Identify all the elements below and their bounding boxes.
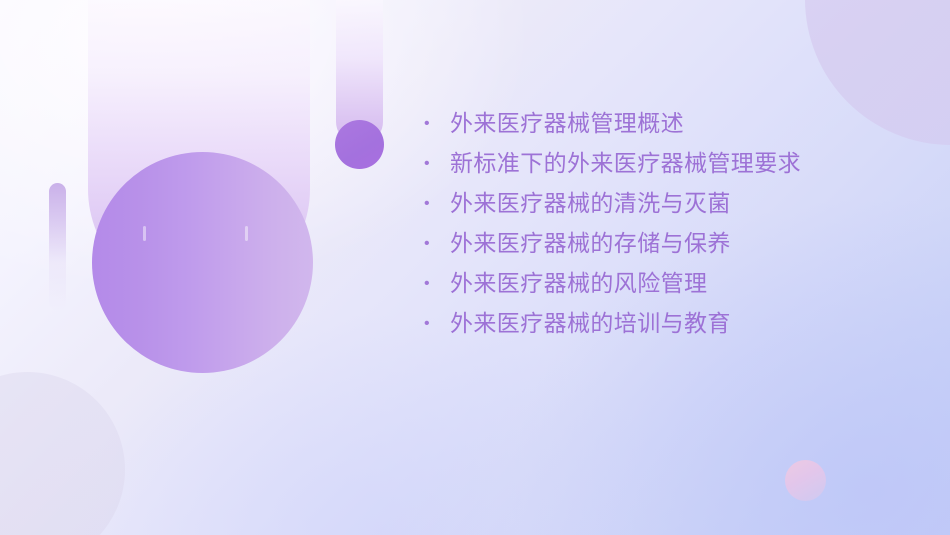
list-item[interactable]: • 外来医疗器械管理概述 bbox=[424, 112, 904, 152]
bullet-point-icon: • bbox=[424, 196, 450, 212]
list-item-label: 外来医疗器械的风险管理 bbox=[450, 272, 904, 295]
bullet-point-icon: • bbox=[424, 156, 450, 172]
decorative-dot-pink bbox=[785, 460, 826, 501]
agenda-bullet-list: • 外来医疗器械管理概述 • 新标准下的外来医疗器械管理要求 • 外来医疗器械的… bbox=[424, 112, 904, 352]
bullet-point-icon: • bbox=[424, 316, 450, 332]
list-item[interactable]: • 外来医疗器械的存储与保养 bbox=[424, 232, 904, 272]
list-item[interactable]: • 外来医疗器械的清洗与灭菌 bbox=[424, 192, 904, 232]
list-item-label: 外来医疗器械的清洗与灭菌 bbox=[450, 192, 904, 215]
presentation-slide: • 外来医疗器械管理概述 • 新标准下的外来医疗器械管理要求 • 外来医疗器械的… bbox=[0, 0, 950, 535]
decorative-pill-thin bbox=[49, 183, 66, 311]
bullet-point-icon: • bbox=[424, 236, 450, 252]
list-item-label: 外来医疗器械管理概述 bbox=[450, 112, 904, 135]
bullet-point-icon: • bbox=[424, 276, 450, 292]
decorative-circle-bottom-left bbox=[0, 372, 125, 535]
list-item-label: 外来医疗器械的存储与保养 bbox=[450, 232, 904, 255]
decorative-dot-purple bbox=[335, 120, 384, 169]
decorative-tick-right bbox=[245, 226, 248, 241]
list-item[interactable]: • 外来医疗器械的培训与教育 bbox=[424, 312, 904, 352]
list-item-label: 外来医疗器械的培训与教育 bbox=[450, 312, 904, 335]
decorative-circle-hero bbox=[92, 152, 313, 373]
list-item[interactable]: • 外来医疗器械的风险管理 bbox=[424, 272, 904, 312]
list-item-label: 新标准下的外来医疗器械管理要求 bbox=[450, 152, 904, 175]
list-item[interactable]: • 新标准下的外来医疗器械管理要求 bbox=[424, 152, 904, 192]
decorative-tick-left bbox=[143, 226, 146, 241]
bullet-point-icon: • bbox=[424, 116, 450, 132]
